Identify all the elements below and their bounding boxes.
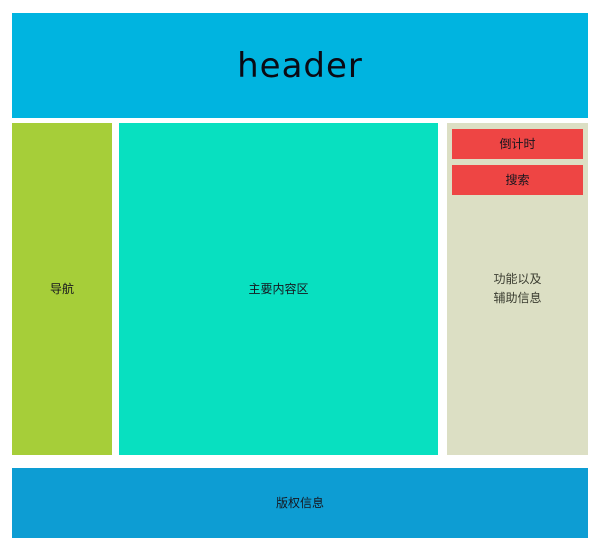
main-content-label: 主要内容区 [248,280,308,298]
navigation-region: 导航 [12,123,112,455]
footer-region: 版权信息 [12,468,588,538]
countdown-widget-label: 倒计时 [499,136,535,153]
layout-wireframe-diagram: header 导航 主要内容区 功能以及 辅助信息 倒计时 搜索 版权信息 [0,0,600,550]
header-label: header [237,49,363,83]
countdown-widget-box[interactable]: 倒计时 [452,129,583,159]
search-widget-box[interactable]: 搜索 [452,165,583,195]
aside-info-label: 功能以及 辅助信息 [493,270,541,307]
aside-region: 功能以及 辅助信息 倒计时 搜索 [447,123,588,455]
main-content-region: 主要内容区 [119,123,438,455]
header-region: header [12,13,588,118]
navigation-label: 导航 [50,280,74,298]
footer-label: 版权信息 [276,494,324,512]
search-widget-label: 搜索 [505,172,529,189]
